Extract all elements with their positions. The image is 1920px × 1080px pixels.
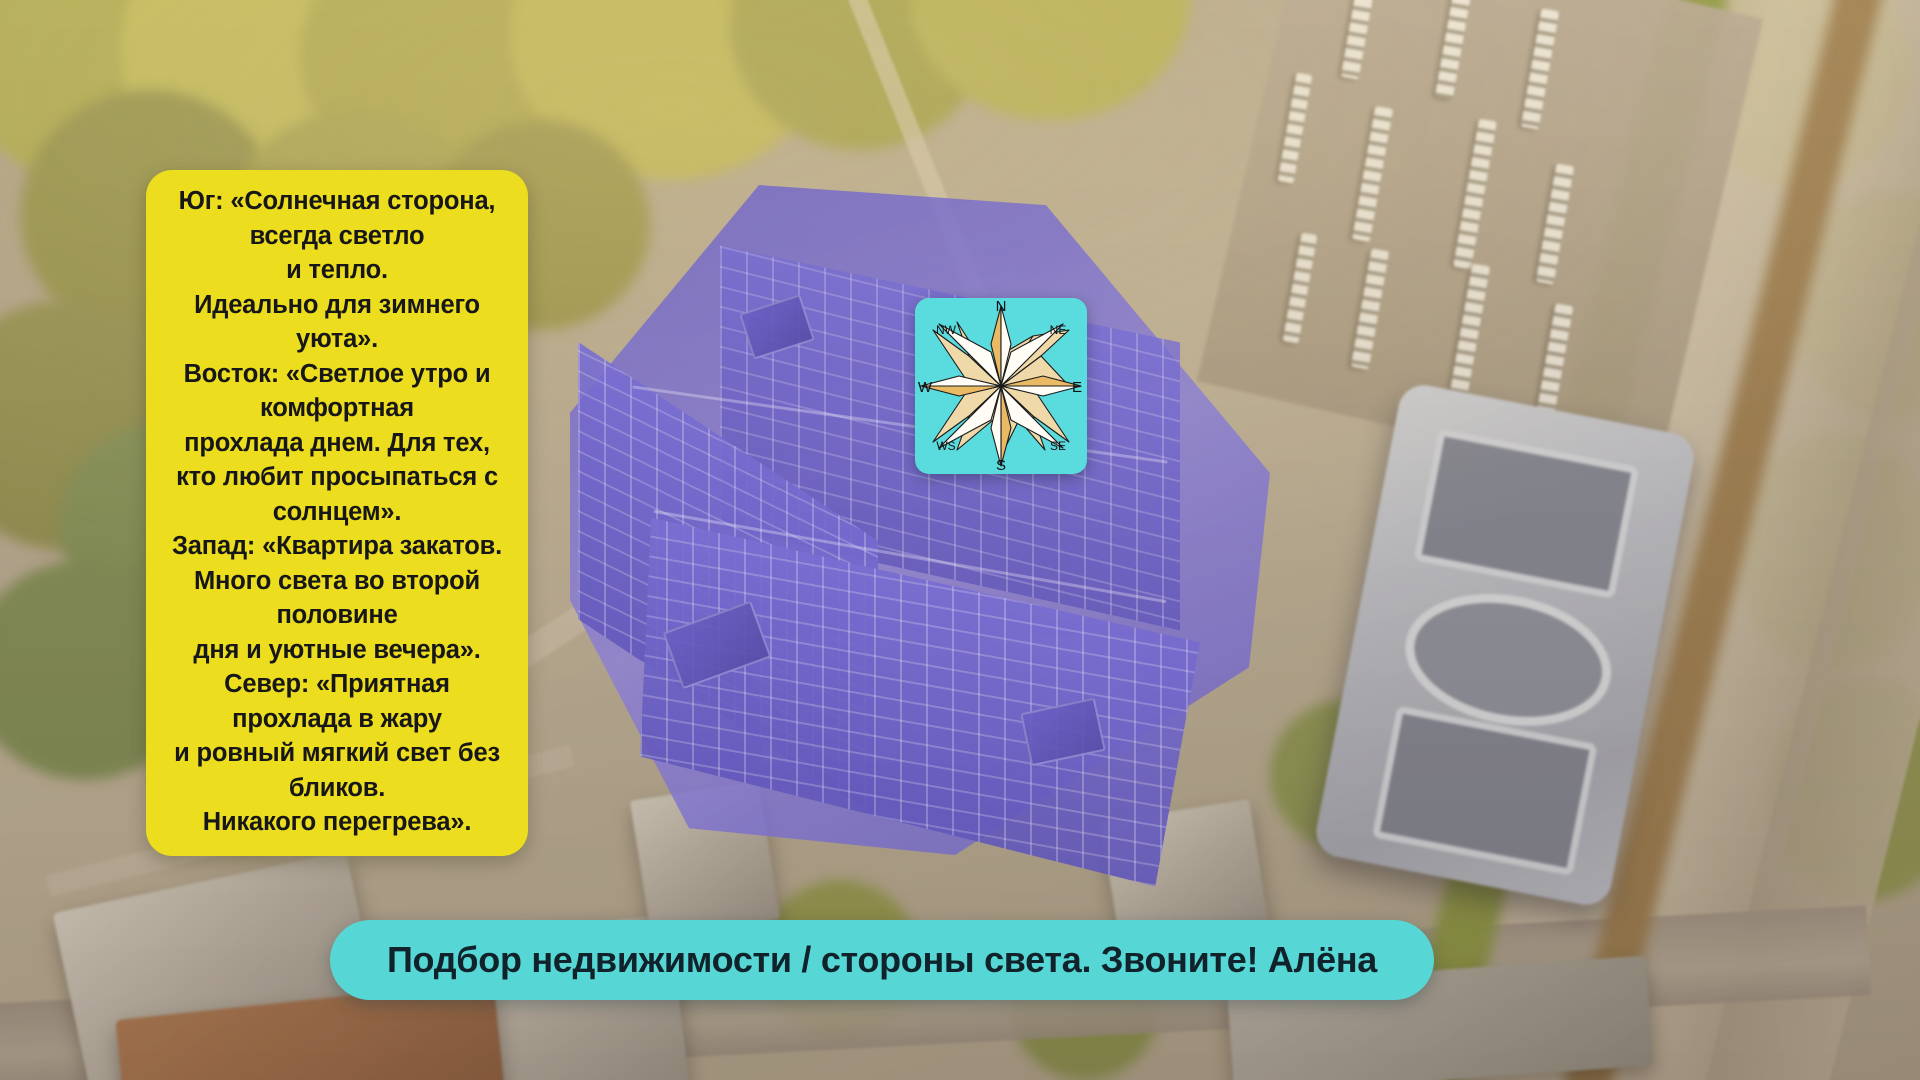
highlighted-building xyxy=(570,185,1270,855)
info-line: всегда светло xyxy=(162,219,512,254)
info-line: и тепло. xyxy=(162,253,512,288)
info-line: Никакого перегрева». xyxy=(162,805,512,840)
info-line: Север: «Приятная xyxy=(162,667,512,702)
compass-label-west: W xyxy=(918,379,933,396)
info-line: прохлада в жару xyxy=(162,702,512,737)
cta-banner-text: Подбор недвижимости / стороны света. Зво… xyxy=(387,939,1377,981)
info-line: прохлада днем. Для тех, xyxy=(162,426,512,461)
compass-label-southeast: SE xyxy=(1050,439,1066,453)
compass-label-southwest: WS xyxy=(936,439,955,453)
info-line: дня и уютные вечера». xyxy=(162,633,512,668)
info-line: Запад: «Квартира закатов. xyxy=(162,529,512,564)
compass-label-northwest: NW xyxy=(936,323,957,337)
compass-label-east: E xyxy=(1072,379,1082,396)
info-line: Юг: «Солнечная сторона, xyxy=(162,184,512,219)
info-line: и ровный мягкий свет без xyxy=(162,736,512,771)
info-line: половине xyxy=(162,598,512,633)
info-card: Юг: «Солнечная сторона, всегда светло и … xyxy=(146,170,528,856)
compass-rose-icon: N NE E SE S WS W NW xyxy=(915,298,1087,474)
info-line: Много света во второй xyxy=(162,564,512,599)
poster-canvas: N NE E SE S WS W NW Юг: «Солнечная сторо… xyxy=(0,0,1920,1080)
info-line: уюта». xyxy=(162,322,512,357)
compass-label-northeast: NE xyxy=(1050,323,1067,337)
info-line: Восток: «Светлое утро и xyxy=(162,357,512,392)
info-line: бликов. xyxy=(162,771,512,806)
cta-banner[interactable]: Подбор недвижимости / стороны света. Зво… xyxy=(330,920,1434,1000)
compass-rose-card: N NE E SE S WS W NW xyxy=(915,298,1087,474)
info-line: Идеально для зимнего xyxy=(162,288,512,323)
courtyard xyxy=(1372,706,1598,876)
info-line: солнцем». xyxy=(162,495,512,530)
compass-label-north: N xyxy=(996,298,1007,315)
info-line: кто любит просыпаться с xyxy=(162,460,512,495)
compass-label-south: S xyxy=(996,457,1006,474)
courtyard xyxy=(1414,428,1640,598)
info-line: комфортная xyxy=(162,391,512,426)
